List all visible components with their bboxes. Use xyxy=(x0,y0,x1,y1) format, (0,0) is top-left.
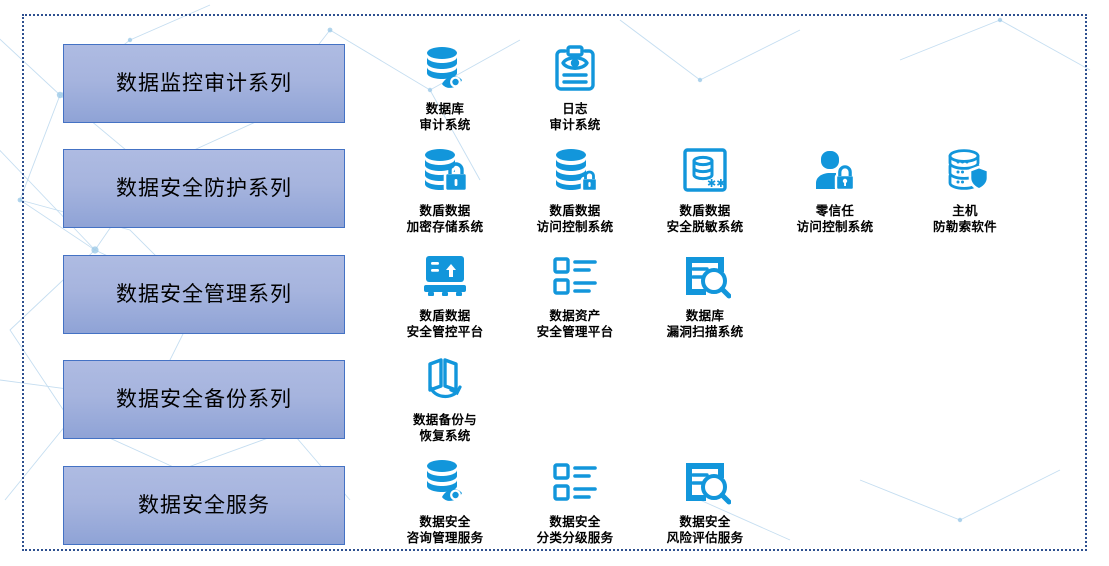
document-search-icon xyxy=(640,453,770,511)
icon-grid: 数据库 审计系统 xyxy=(380,14,1080,551)
database-lock-icon xyxy=(380,142,510,200)
database-eye-icon xyxy=(380,453,510,511)
icon-item-security-consulting-service[interactable]: 数据安全 咨询管理服务 xyxy=(380,453,510,546)
icon-item-zero-trust-access-control[interactable]: 零信任 访问控制系统 xyxy=(770,142,900,235)
icon-item-asset-security-platform[interactable]: 数据资产 安全管理平台 xyxy=(510,247,640,340)
icon-caption: 数据安全 咨询管理服务 xyxy=(380,514,510,546)
category-box-data-security-service[interactable]: 数据安全服务 xyxy=(63,466,345,545)
icon-item-database-audit-system[interactable]: 数据库 审计系统 xyxy=(380,40,510,133)
category-label: 数据安全防护系列 xyxy=(116,178,292,199)
category-box-data-security-protection[interactable]: 数据安全防护系列 xyxy=(63,149,345,228)
category-box-data-security-backup[interactable]: 数据安全备份系列 xyxy=(63,360,345,439)
icon-item-data-masking-system[interactable]: ✱✱ 数盾数据 安全脱敏系统 xyxy=(640,142,770,235)
database-eye-icon xyxy=(380,40,510,98)
server-upload-platform-icon xyxy=(380,247,510,305)
icon-item-security-control-platform[interactable]: 数盾数据 安全管控平台 xyxy=(380,247,510,340)
icon-item-host-anti-ransomware[interactable]: 主机 防勒索软件 xyxy=(900,142,1030,235)
icon-item-log-audit-system[interactable]: 日志 审计系统 xyxy=(510,40,640,133)
icon-caption: 数据安全 分类分级服务 xyxy=(510,514,640,546)
icon-item-backup-recovery-system[interactable]: 数据备份与 恢复系统 xyxy=(380,351,510,444)
icon-caption: 数盾数据 安全管控平台 xyxy=(380,308,510,340)
database-mask-icon: ✱✱ xyxy=(640,142,770,200)
category-column: 数据监控审计系列 数据安全防护系列 数据安全管理系列 数据安全备份系列 数据安全… xyxy=(63,44,345,546)
icon-caption: 数据库 漏洞扫描系统 xyxy=(640,308,770,340)
icon-caption: 零信任 访问控制系统 xyxy=(770,203,900,235)
icon-caption: 主机 防勒索软件 xyxy=(900,203,1030,235)
category-label: 数据安全管理系列 xyxy=(116,284,292,305)
category-box-data-security-management[interactable]: 数据安全管理系列 xyxy=(63,255,345,334)
diagram-canvas: 数据监控审计系列 数据安全防护系列 数据安全管理系列 数据安全备份系列 数据安全… xyxy=(0,0,1109,566)
checklist-icon xyxy=(510,453,640,511)
clipboard-eye-icon xyxy=(510,40,640,98)
category-box-data-monitoring-audit[interactable]: 数据监控审计系列 xyxy=(63,44,345,123)
icon-caption: 数据库 审计系统 xyxy=(380,101,510,133)
icon-caption: 数据安全 风险评估服务 xyxy=(640,514,770,546)
icon-item-encrypted-storage-system[interactable]: 数盾数据 加密存储系统 xyxy=(380,142,510,235)
icon-item-classification-grading-service[interactable]: 数据安全 分类分级服务 xyxy=(510,453,640,546)
checklist-icon xyxy=(510,247,640,305)
person-lock-icon xyxy=(770,142,900,200)
database-padlock-icon xyxy=(510,142,640,200)
icon-caption: 日志 审计系统 xyxy=(510,101,640,133)
document-search-icon xyxy=(640,247,770,305)
category-label: 数据监控审计系列 xyxy=(116,73,292,94)
icon-item-access-control-system[interactable]: 数盾数据 访问控制系统 xyxy=(510,142,640,235)
svg-text:✱✱: ✱✱ xyxy=(707,178,725,190)
icon-item-database-vulnerability-scan[interactable]: 数据库 漏洞扫描系统 xyxy=(640,247,770,340)
icon-item-risk-assessment-service[interactable]: 数据安全 风险评估服务 xyxy=(640,453,770,546)
icon-caption: 数盾数据 访问控制系统 xyxy=(510,203,640,235)
icon-caption: 数盾数据 安全脱敏系统 xyxy=(640,203,770,235)
backup-sync-icon xyxy=(380,351,510,409)
icon-caption: 数据资产 安全管理平台 xyxy=(510,308,640,340)
category-label: 数据安全备份系列 xyxy=(116,389,292,410)
icon-caption: 数盾数据 加密存储系统 xyxy=(380,203,510,235)
server-shield-icon xyxy=(900,142,1030,200)
category-label: 数据安全服务 xyxy=(138,495,270,516)
icon-caption: 数据备份与 恢复系统 xyxy=(380,412,510,444)
